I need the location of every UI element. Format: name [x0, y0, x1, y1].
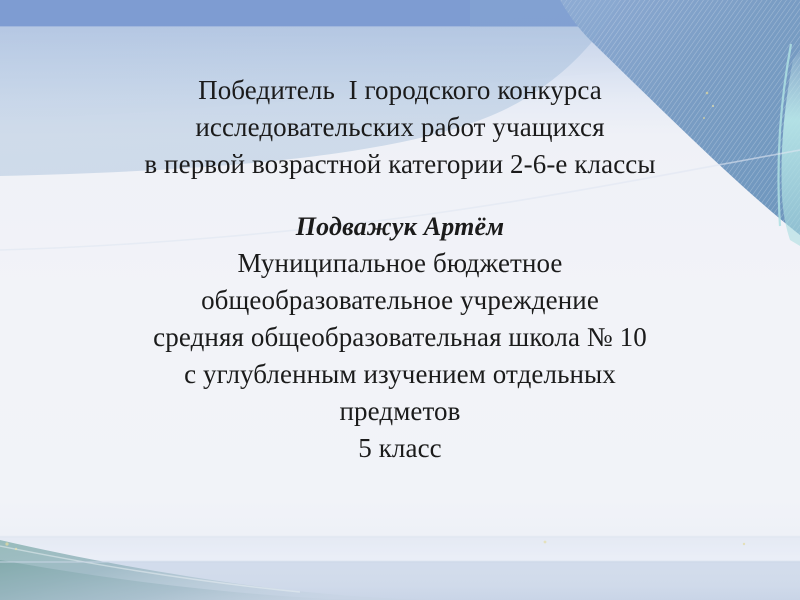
presentation-slide: Победитель I городского конкурса исследо… — [0, 0, 800, 600]
award-line-1: Победитель I городского конкурса — [0, 72, 800, 109]
bottom-left-wedge-highlight — [0, 546, 300, 592]
award-line-3: в первой возрастной категории 2-6-е клас… — [0, 146, 800, 183]
school-line-1: Муниципальное бюджетное — [0, 245, 800, 282]
author-name: Подважук Артём — [0, 208, 800, 245]
award-line-2: исследовательских работ учащихся — [0, 109, 800, 146]
speck-left-bottom — [5, 542, 8, 545]
school-line-4: с углубленным изучением отдельных — [0, 356, 800, 393]
speck-far-bottom — [743, 543, 745, 545]
award-paragraph: Победитель I городского конкурса исследо… — [0, 72, 800, 183]
school-line-3: средняя общеобразовательная школа № 10 — [0, 319, 800, 356]
school-line-2: общеобразовательное учреждение — [0, 282, 800, 319]
school-line-5: предметов — [0, 393, 800, 430]
speck-left-bottom2 — [15, 548, 17, 550]
author-paragraph: Подважук Артём Муниципальное бюджетное о… — [0, 208, 800, 467]
grade-line: 5 класс — [0, 430, 800, 467]
bottom-left-wedge-secondary — [0, 560, 520, 600]
bottom-left-wedge-shape — [0, 540, 430, 600]
speck-mid-bottom — [544, 541, 547, 544]
